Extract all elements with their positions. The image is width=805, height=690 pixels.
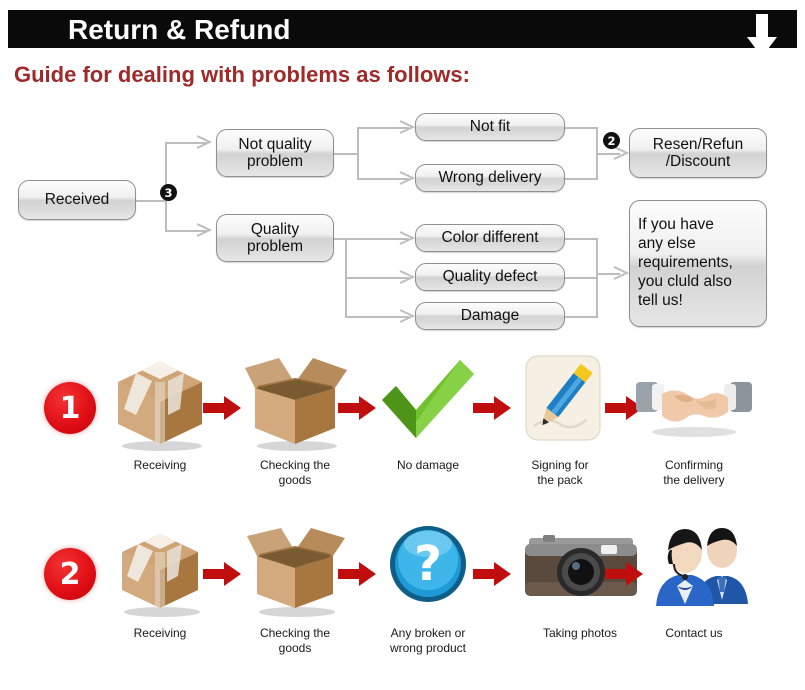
step-no-damage: No damage — [368, 352, 488, 473]
green-check-icon — [368, 352, 488, 452]
node-label-line2: any else — [638, 235, 696, 254]
node-label: Not fit — [470, 119, 510, 135]
node-label-line4: you cluld also — [638, 273, 732, 292]
node-label-line2: problem — [247, 153, 303, 170]
step-label: Confirming the delivery — [634, 458, 754, 488]
step-label: Contact us — [634, 626, 754, 641]
handshake-icon — [634, 352, 754, 452]
step-label: Checking the goods — [235, 458, 355, 488]
connector — [357, 127, 359, 180]
arrow-head-icon — [399, 270, 415, 284]
step-receiving: Receiving — [100, 352, 220, 473]
connector — [565, 316, 598, 318]
process-row-2: 2 Receiving — [0, 520, 805, 690]
pencil-sign-icon — [500, 352, 620, 452]
step-label: Any broken or wrong product — [368, 626, 488, 656]
arrow-head-icon — [399, 120, 415, 134]
step-any-broken-or-wrong: ? Any broken or wrong product — [368, 520, 488, 656]
node-label-line1: Not quality — [238, 136, 311, 153]
question-mark-icon: ? — [368, 520, 488, 620]
row-badge-1: 1 — [44, 382, 96, 434]
node-label-line1: Resen/Refun — [653, 136, 743, 153]
arrow-head-icon — [613, 266, 629, 280]
node-color-different[interactable]: Color different — [415, 224, 565, 252]
step-checking-goods-2: Checking the goods — [235, 520, 355, 656]
step-signing-for-pack: Signing for the pack — [500, 352, 620, 488]
support-people-icon — [634, 520, 754, 620]
step-label: Signing for the pack — [500, 458, 620, 488]
connector — [565, 238, 598, 240]
arrow-head-icon — [613, 146, 629, 160]
flowchart: 3 2 Received Not quality problem Quality… — [0, 105, 805, 335]
badge-step-2: 2 — [603, 132, 620, 149]
node-quality-problem[interactable]: Quality problem — [216, 214, 334, 262]
connector — [565, 178, 598, 180]
step-label: Receiving — [100, 626, 220, 641]
node-label: Color different — [441, 230, 538, 246]
node-label-line1: Quality — [251, 221, 299, 238]
return-refund-infographic: Return & Refund Guide for dealing with p… — [0, 0, 805, 677]
open-box-icon — [235, 520, 355, 620]
node-label: Damage — [461, 308, 520, 324]
node-else-requirements[interactable]: If you have any else requirements, you c… — [629, 200, 767, 327]
arrow-head-icon — [399, 171, 415, 185]
step-label: No damage — [368, 458, 488, 473]
arrow-head-icon — [196, 135, 212, 149]
step-contact-us: Contact us — [634, 520, 754, 641]
node-label: Received — [45, 192, 110, 208]
step-label: Receiving — [100, 458, 220, 473]
node-label: Wrong delivery — [438, 170, 541, 186]
connector — [565, 277, 598, 279]
node-resend-refund-discount[interactable]: Resen/Refun /Discount — [629, 128, 767, 178]
step-confirming-delivery: Confirming the delivery — [634, 352, 754, 488]
down-arrow-icon — [745, 14, 779, 58]
process-row-1: 1 Receiving — [0, 352, 805, 522]
arrow-head-icon — [399, 309, 415, 323]
page-title: Return & Refund — [68, 16, 290, 44]
node-label: Quality defect — [443, 269, 538, 285]
node-received[interactable]: Received — [18, 180, 136, 220]
node-wrong-delivery[interactable]: Wrong delivery — [415, 164, 565, 192]
node-label-line3: requirements, — [638, 254, 733, 273]
step-checking-goods: Checking the goods — [235, 352, 355, 488]
connector — [331, 153, 359, 155]
header-bar: Return & Refund — [8, 10, 797, 48]
badge-step-3: 3 — [160, 184, 177, 201]
node-label-line5: tell us! — [638, 292, 683, 311]
node-quality-defect[interactable]: Quality defect — [415, 263, 565, 291]
node-label-line1: If you have — [638, 216, 714, 235]
arrow-head-icon — [196, 223, 212, 237]
node-label-line2: problem — [247, 238, 303, 255]
node-damage[interactable]: Damage — [415, 302, 565, 330]
svg-text:?: ? — [414, 536, 442, 592]
closed-box-icon — [100, 352, 220, 452]
open-box-icon — [235, 352, 355, 452]
connector — [135, 200, 167, 202]
step-receiving-2: Receiving — [100, 520, 220, 641]
step-label: Checking the goods — [235, 626, 355, 656]
arrow-head-icon — [399, 231, 415, 245]
step-label: Taking photos — [505, 626, 655, 641]
node-label-line2: /Discount — [666, 153, 731, 170]
subtitle: Guide for dealing with problems as follo… — [14, 62, 470, 88]
node-not-fit[interactable]: Not fit — [415, 113, 565, 141]
closed-box-icon — [100, 520, 220, 620]
connector — [565, 127, 598, 129]
row-badge-2: 2 — [44, 548, 96, 600]
connector — [596, 238, 598, 316]
node-not-quality-problem[interactable]: Not quality problem — [216, 129, 334, 177]
